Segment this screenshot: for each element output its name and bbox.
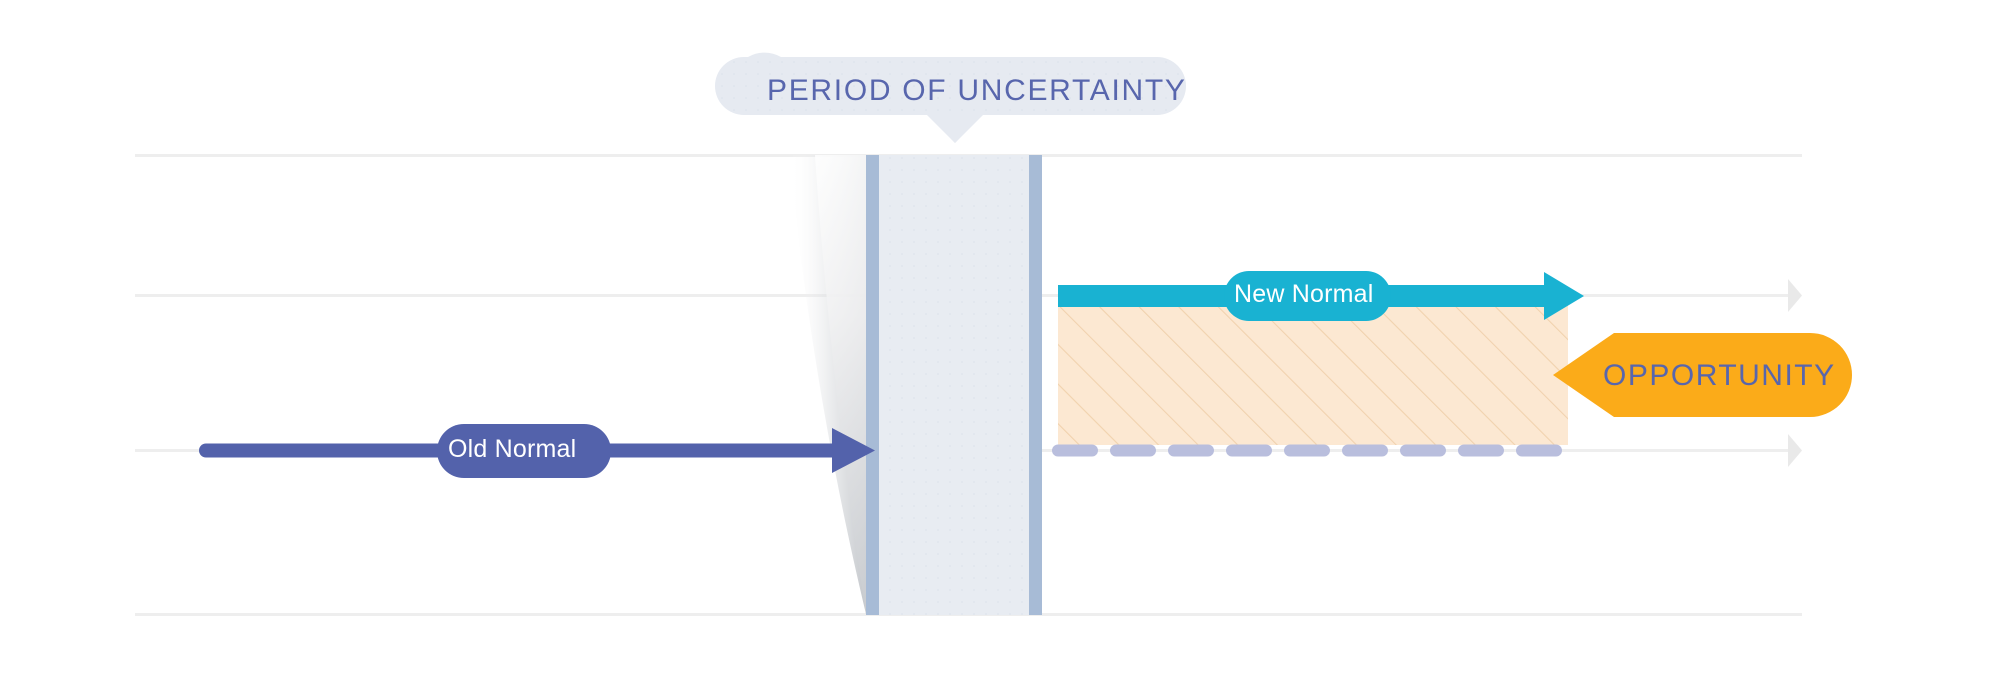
old-normal-label: Old Normal (448, 435, 576, 464)
diagram-canvas: PERIOD OF UNCERTAINTY Old Normal New Nor… (0, 0, 2002, 686)
gridline-arrowhead-icon (1788, 279, 1802, 312)
uncertainty-funnel (790, 155, 866, 614)
gridline-arrowhead-icon (1788, 434, 1802, 467)
opportunity-growth-area (1058, 305, 1568, 445)
band-left-edge (866, 155, 879, 615)
period-of-uncertainty-band (866, 155, 1042, 615)
period-of-uncertainty-label: PERIOD OF UNCERTAINTY (767, 74, 1187, 108)
opportunity-label: OPPORTUNITY (1603, 359, 1836, 393)
new-normal-label: New Normal (1234, 280, 1374, 309)
band-right-edge (1029, 155, 1042, 615)
